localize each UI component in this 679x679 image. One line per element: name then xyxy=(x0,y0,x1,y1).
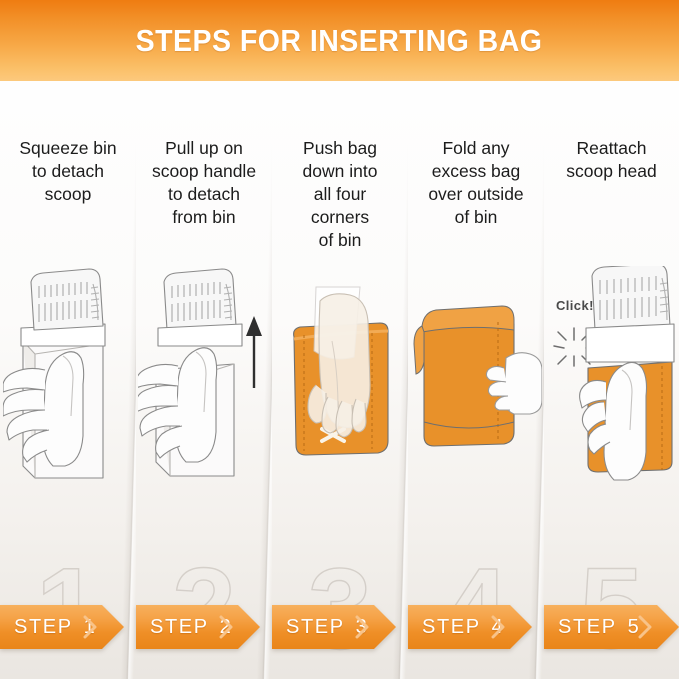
caption-line: Push bag xyxy=(278,137,402,160)
step-caption-2: Pull up on scoop handle to detach from b… xyxy=(136,137,272,229)
step-illustration-1 xyxy=(0,266,136,566)
step-illustration-5: Click! xyxy=(544,266,679,566)
step-ribbon-bar: STEP 1 STEP 2 STEP 3 xyxy=(0,605,679,651)
caption-line: to detach xyxy=(6,160,130,183)
step-illustration-4 xyxy=(408,296,544,596)
ribbon-label: STEP xyxy=(558,616,617,639)
step-panel-3: Push bag down into all four corners of b… xyxy=(272,81,408,679)
caption-line: corners xyxy=(278,206,402,229)
chevron-right-icon xyxy=(355,615,370,639)
caption-line: all four xyxy=(278,183,402,206)
caption-line: scoop xyxy=(6,183,130,206)
step-panel-1: Squeeze bin to detach scoop xyxy=(0,81,136,679)
ribbon-shape: STEP 5 xyxy=(544,605,679,649)
ribbon-label: STEP xyxy=(422,616,481,639)
step-panel-5: Reattach scoop head Click! xyxy=(544,81,679,679)
caption-line: scoop handle xyxy=(142,160,266,183)
caption-line: Squeeze bin xyxy=(6,137,130,160)
caption-line: of bin xyxy=(414,206,538,229)
ribbon-label: STEP xyxy=(286,616,345,639)
step-ribbon-2[interactable]: STEP 2 xyxy=(136,605,260,649)
ribbon-shape: STEP 4 xyxy=(408,605,532,649)
step-caption-1: Squeeze bin to detach scoop xyxy=(0,137,136,206)
page-title: STEPS FOR INSERTING BAG xyxy=(136,23,543,59)
step-panel-4: Fold any excess bag over outside of bin xyxy=(408,81,544,679)
step-illustration-3 xyxy=(272,281,408,581)
caption-line: of bin xyxy=(278,229,402,252)
ribbon-shape: STEP 3 xyxy=(272,605,396,649)
ribbon-shape: STEP 2 xyxy=(136,605,260,649)
caption-line: Pull up on xyxy=(142,137,266,160)
ribbon-label: STEP xyxy=(150,616,209,639)
caption-line: excess bag xyxy=(414,160,538,183)
step-panel-2: Pull up on scoop handle to detach from b… xyxy=(136,81,272,679)
caption-line: scoop head xyxy=(550,160,673,183)
step-ribbon-1[interactable]: STEP 1 xyxy=(0,605,124,649)
caption-line: from bin xyxy=(142,206,266,229)
chevron-right-icon xyxy=(638,615,653,639)
step-ribbon-3[interactable]: STEP 3 xyxy=(272,605,396,649)
chevron-right-icon xyxy=(83,615,98,639)
ribbon-label: STEP xyxy=(14,616,73,639)
instruction-infographic: STEPS FOR INSERTING BAG Squeeze bin to d… xyxy=(0,0,679,679)
chevron-right-icon xyxy=(491,615,506,639)
up-arrow-icon xyxy=(246,316,262,388)
click-annotation: Click! xyxy=(556,298,594,313)
ribbon-shape: STEP 1 xyxy=(0,605,124,649)
caption-line: to detach xyxy=(142,183,266,206)
caption-line: Fold any xyxy=(414,137,538,160)
step-caption-5: Reattach scoop head xyxy=(544,137,679,183)
step-caption-3: Push bag down into all four corners of b… xyxy=(272,137,408,252)
step-ribbon-5[interactable]: STEP 5 xyxy=(544,605,679,649)
chevron-right-icon xyxy=(219,615,234,639)
step-ribbon-4[interactable]: STEP 4 xyxy=(408,605,532,649)
caption-line: Reattach xyxy=(550,137,673,160)
steps-board: Squeeze bin to detach scoop xyxy=(0,81,679,679)
header-banner: STEPS FOR INSERTING BAG xyxy=(0,0,679,81)
step-caption-4: Fold any excess bag over outside of bin xyxy=(408,137,544,229)
caption-line: over outside xyxy=(414,183,538,206)
step-illustration-2 xyxy=(136,266,272,566)
caption-line: down into xyxy=(278,160,402,183)
